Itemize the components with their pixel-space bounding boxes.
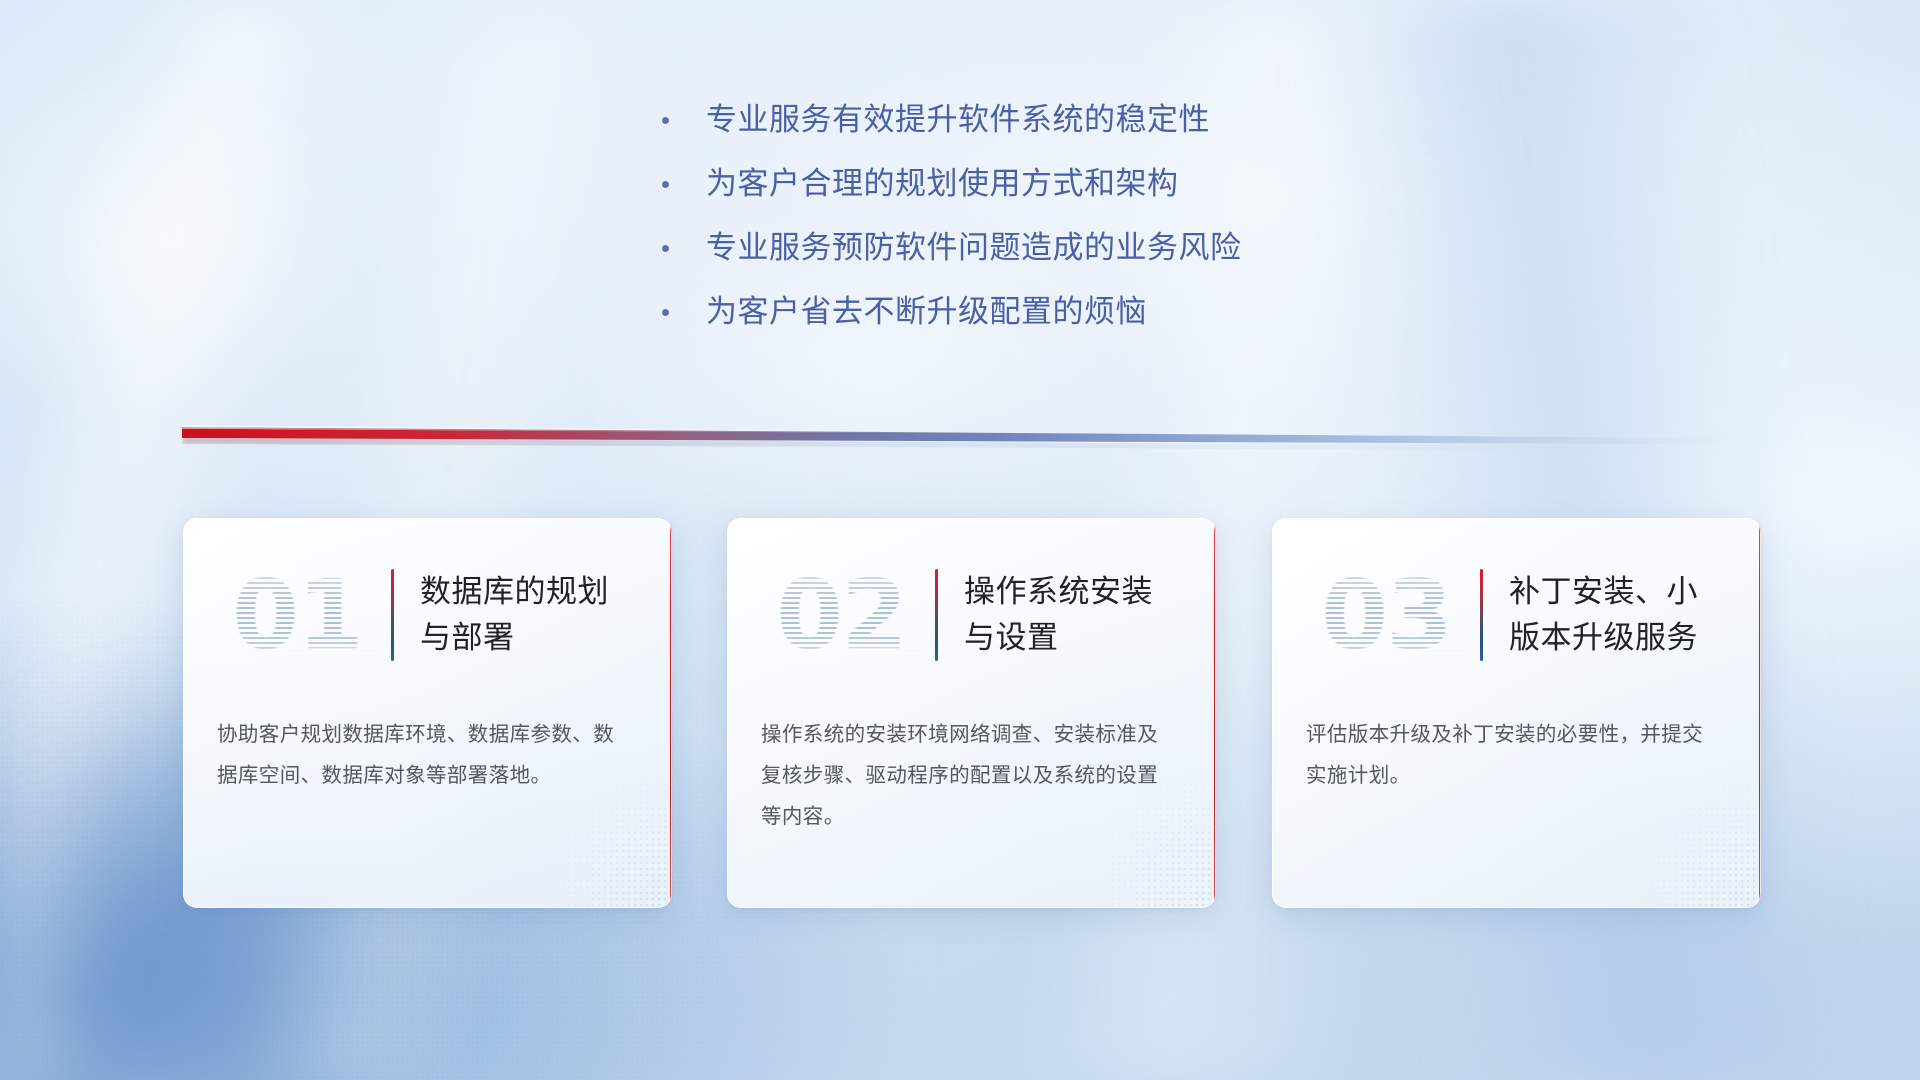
- card-divider-bar: [935, 569, 938, 661]
- card-number: 01: [217, 567, 377, 663]
- list-item: 专业服务有效提升软件系统的稳定性: [662, 98, 1422, 162]
- card-header: 03 补丁安装、小版本升级服务: [1272, 518, 1761, 712]
- benefits-bullet-list: 专业服务有效提升软件系统的稳定性 为客户合理的规划使用方式和架构 专业服务预防软…: [662, 98, 1422, 354]
- card-body-text: 评估版本升级及补丁安装的必要性，并提交实施计划。: [1306, 714, 1714, 796]
- card-title: 数据库的规划与部署: [420, 569, 638, 661]
- card-number: 02: [761, 567, 921, 663]
- card-title: 操作系统安装与设置: [964, 569, 1182, 661]
- service-card-03[interactable]: 03 补丁安装、小版本升级服务 评估版本升级及补丁安装的必要性，并提交实施计划。: [1272, 518, 1761, 908]
- card-accent-line: [1759, 520, 1761, 906]
- bullet-text: 专业服务预防软件问题造成的业务风险: [706, 226, 1242, 270]
- service-card-02[interactable]: 02 操作系统安装与设置 操作系统的安装环境网络调查、安装标准及复核步骤、驱动程…: [727, 518, 1216, 908]
- card-header: 01 数据库的规划与部署: [183, 518, 672, 712]
- section-divider: [182, 418, 1730, 452]
- card-divider-bar: [1480, 569, 1483, 661]
- list-item: 为客户合理的规划使用方式和架构: [662, 162, 1422, 226]
- card-divider-bar: [391, 569, 394, 661]
- slide-canvas: 专业服务有效提升软件系统的稳定性 为客户合理的规划使用方式和架构 专业服务预防软…: [0, 0, 1920, 1080]
- card-accent-line: [670, 520, 672, 906]
- service-cards: 01 数据库的规划与部署 协助客户规划数据库环境、数据库参数、数据库空间、数据库…: [183, 518, 1761, 908]
- bullet-dot-icon: [662, 309, 669, 316]
- list-item: 专业服务预防软件问题造成的业务风险: [662, 226, 1422, 290]
- bullet-dot-icon: [662, 245, 669, 252]
- card-body-text: 协助客户规划数据库环境、数据库参数、数据库空间、数据库对象等部署落地。: [217, 714, 625, 796]
- bullet-text: 为客户省去不断升级配置的烦恼: [706, 290, 1147, 334]
- card-header: 02 操作系统安装与设置: [727, 518, 1216, 712]
- bullet-text: 专业服务有效提升软件系统的稳定性: [706, 98, 1210, 142]
- list-item: 为客户省去不断升级配置的烦恼: [662, 290, 1422, 354]
- card-title: 补丁安装、小版本升级服务: [1509, 569, 1727, 661]
- bullet-text: 为客户合理的规划使用方式和架构: [706, 162, 1179, 206]
- card-body-text: 操作系统的安装环境网络调查、安装标准及复核步骤、驱动程序的配置以及系统的设置等内…: [761, 714, 1169, 837]
- service-card-01[interactable]: 01 数据库的规划与部署 协助客户规划数据库环境、数据库参数、数据库空间、数据库…: [183, 518, 672, 908]
- bullet-dot-icon: [662, 117, 669, 124]
- card-accent-line: [1214, 520, 1216, 906]
- bullet-dot-icon: [662, 181, 669, 188]
- card-number: 03: [1306, 567, 1466, 663]
